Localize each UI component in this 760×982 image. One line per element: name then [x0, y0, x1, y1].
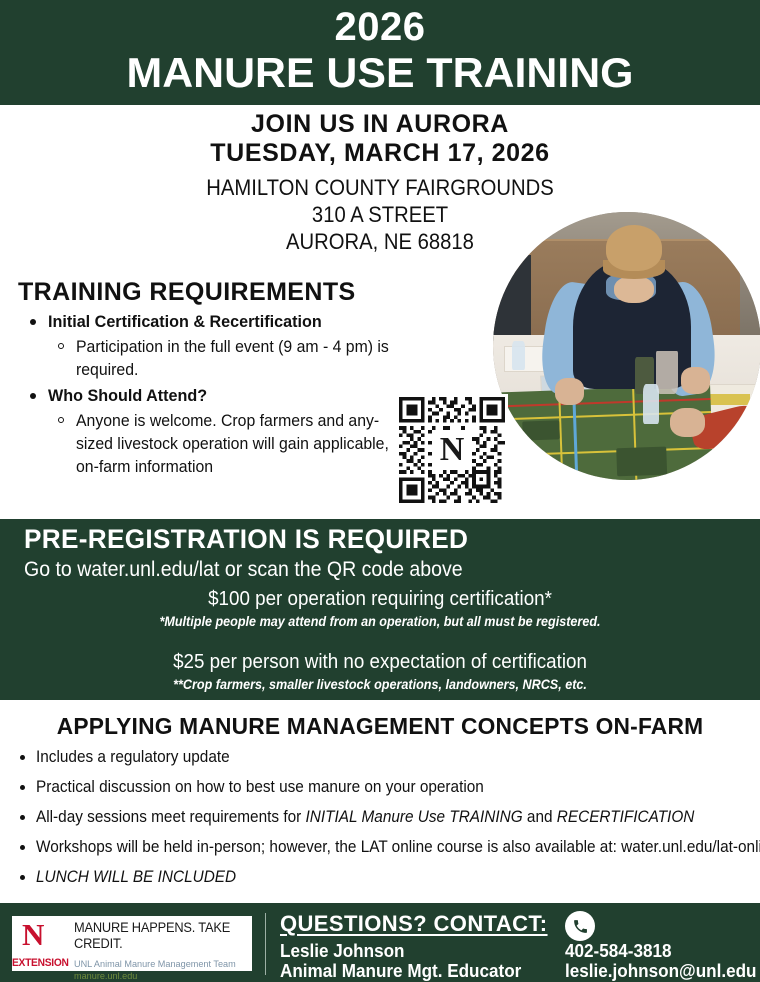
bullet-dot-icon: [30, 393, 36, 399]
pre-registration-subtitle: Go to water.unl.edu/lat or scan the QR c…: [24, 558, 463, 582]
venue-name: HAMILTON COUNTY FAIRGROUNDS: [30, 174, 729, 201]
fee-block-certification: $100 per operation requiring certificati…: [0, 587, 760, 631]
flyer-page: 2026 MANURE USE TRAINING JOIN US IN AURO…: [0, 0, 760, 982]
questions-contact-title: QUESTIONS? CONTACT:: [280, 911, 548, 937]
contact-role: Animal Manure Mgt. Educator: [280, 961, 521, 982]
photo-second-person-hand: [670, 408, 705, 437]
fee-note: *Multiple people may attend from an oper…: [38, 612, 722, 631]
requirement-detail: Participation in the full event (9 am - …: [76, 335, 394, 381]
extension-logo-text: MANURE HAPPENS. TAKE CREDIT. UNL Animal …: [70, 916, 252, 971]
bullet-text-plain: All-day sessions meet requirements for: [36, 808, 305, 826]
list-item: Participation in the full event (9 am - …: [48, 335, 418, 381]
bullet-dot-icon: [20, 785, 25, 790]
event-date-line: TUESDAY, MARCH 17, 2026: [0, 139, 760, 168]
bullet-text-em2: RECERTIFICATION: [557, 808, 695, 826]
header-banner: 2026 MANURE USE TRAINING: [0, 0, 760, 105]
requirement-detail: Anyone is welcome. Crop farmers and any-…: [76, 409, 394, 478]
requirements-list: Initial Certification & Recertification …: [18, 311, 418, 478]
photo-water-bottle: [643, 384, 659, 424]
applying-bullet-text: LUNCH WILL BE INCLUDED: [36, 867, 694, 888]
header-year: 2026: [0, 5, 760, 49]
list-item: Initial Certification & Recertification …: [18, 311, 418, 381]
bullet-text-plain: Workshops will be held in-person; howeve…: [36, 838, 760, 856]
footer-divider: [265, 913, 266, 975]
bullet-text-mid: and: [523, 808, 557, 826]
training-requirements-heading: TRAINING REQUIREMENTS: [18, 277, 418, 307]
list-item: LUNCH WILL BE INCLUDED: [14, 867, 744, 888]
bullet-dot-icon: [20, 845, 25, 850]
qr-center-letter: N: [440, 433, 465, 467]
photo-person-right-hand: [681, 367, 710, 394]
applying-bullet-text: Practical discussion on how to best use …: [36, 777, 694, 798]
nebraska-n-icon: N: [22, 919, 43, 950]
qr-center-logo: N: [432, 430, 472, 470]
bullet-dot-icon: [30, 319, 36, 325]
photo-drink-cup: [656, 351, 677, 394]
footer-bar: N EXTENSION MANURE HAPPENS. TAKE CREDIT.…: [0, 903, 760, 982]
join-us-line: JOIN US IN AURORA: [0, 110, 760, 139]
bullet-circle-icon: [58, 343, 64, 349]
list-item: Workshops will be held in-person; howeve…: [14, 837, 744, 858]
fee-block-no-certification: $25 per person with no expectation of ce…: [0, 650, 760, 694]
contact-email[interactable]: leslie.johnson@unl.edu: [565, 961, 756, 982]
event-photo: [493, 212, 760, 480]
list-item: Anyone is welcome. Crop farmers and any-…: [48, 409, 418, 478]
pre-registration-section: PRE-REGISTRATION IS REQUIRED Go to water…: [0, 519, 760, 700]
logo-tagline: MANURE HAPPENS. TAKE CREDIT.: [74, 920, 239, 952]
header-title: MANURE USE TRAINING: [0, 49, 760, 97]
fee-amount-line: $25 per person with no expectation of ce…: [23, 650, 737, 675]
pre-registration-title: PRE-REGISTRATION IS REQUIRED: [24, 524, 468, 555]
training-requirements-block: TRAINING REQUIREMENTS Initial Certificat…: [18, 277, 418, 482]
qr-code[interactable]: N: [396, 394, 508, 506]
list-item: All-day sessions meet requirements for I…: [14, 807, 744, 828]
fee-amount-line: $100 per operation requiring certificati…: [23, 587, 737, 612]
bullet-circle-icon: [58, 417, 64, 423]
extension-wordmark: EXTENSION: [12, 957, 69, 969]
extension-logo-mark: N EXTENSION: [12, 916, 70, 971]
list-item: Practical discussion on how to best use …: [14, 777, 744, 798]
photo-water-bottle-2: [512, 341, 525, 370]
logo-url[interactable]: manure.unl.edu: [74, 971, 241, 982]
photo-person-cap: [606, 225, 662, 271]
bullet-dot-icon: [20, 815, 25, 820]
applying-concepts-list: Includes a regulatory update Practical d…: [0, 747, 760, 888]
applying-bullet-text: Workshops will be held in-person; howeve…: [36, 837, 694, 858]
bullet-text-plain: Includes a regulatory update: [36, 748, 230, 766]
extension-logo: N EXTENSION MANURE HAPPENS. TAKE CREDIT.…: [12, 916, 252, 971]
requirement-sublist: Participation in the full event (9 am - …: [48, 335, 418, 381]
photo-person-left-hand: [555, 378, 584, 405]
bullet-text-em1: INITIAL Manure Use TRAINING: [305, 808, 522, 826]
fee-note: **Crop farmers, smaller livestock operat…: [38, 675, 722, 694]
bullet-dot-icon: [20, 755, 25, 760]
photo-person-face: [614, 276, 654, 303]
phone-icon: [565, 911, 595, 941]
list-item: Includes a regulatory update: [14, 747, 744, 768]
applying-bullet-text: All-day sessions meet requirements for I…: [36, 807, 694, 828]
contact-phone[interactable]: 402-584-3818: [565, 941, 672, 962]
phone-handset-glyph: [572, 918, 589, 935]
requirement-label: Who Should Attend?: [48, 385, 400, 407]
bullet-dot-icon: [20, 875, 25, 880]
bullet-text-plain: Practical discussion on how to best use …: [36, 778, 484, 796]
list-item: Who Should Attend? Anyone is welcome. Cr…: [18, 385, 418, 478]
applying-concepts-section: APPLYING MANURE MANAGEMENT CONCEPTS ON-F…: [0, 712, 760, 897]
photo-paper-4: [705, 394, 751, 405]
requirement-label: Initial Certification & Recertification: [48, 311, 400, 333]
requirement-sublist: Anyone is welcome. Crop farmers and any-…: [48, 409, 418, 478]
contact-name: Leslie Johnson: [280, 941, 404, 962]
applying-bullet-text: Includes a regulatory update: [36, 747, 694, 768]
logo-team-name: UNL Animal Manure Management Team: [74, 959, 241, 971]
applying-concepts-heading: APPLYING MANURE MANAGEMENT CONCEPTS ON-F…: [4, 712, 756, 740]
bullet-text-em1: LUNCH WILL BE INCLUDED: [36, 868, 236, 886]
photo-shelf: [493, 255, 531, 341]
